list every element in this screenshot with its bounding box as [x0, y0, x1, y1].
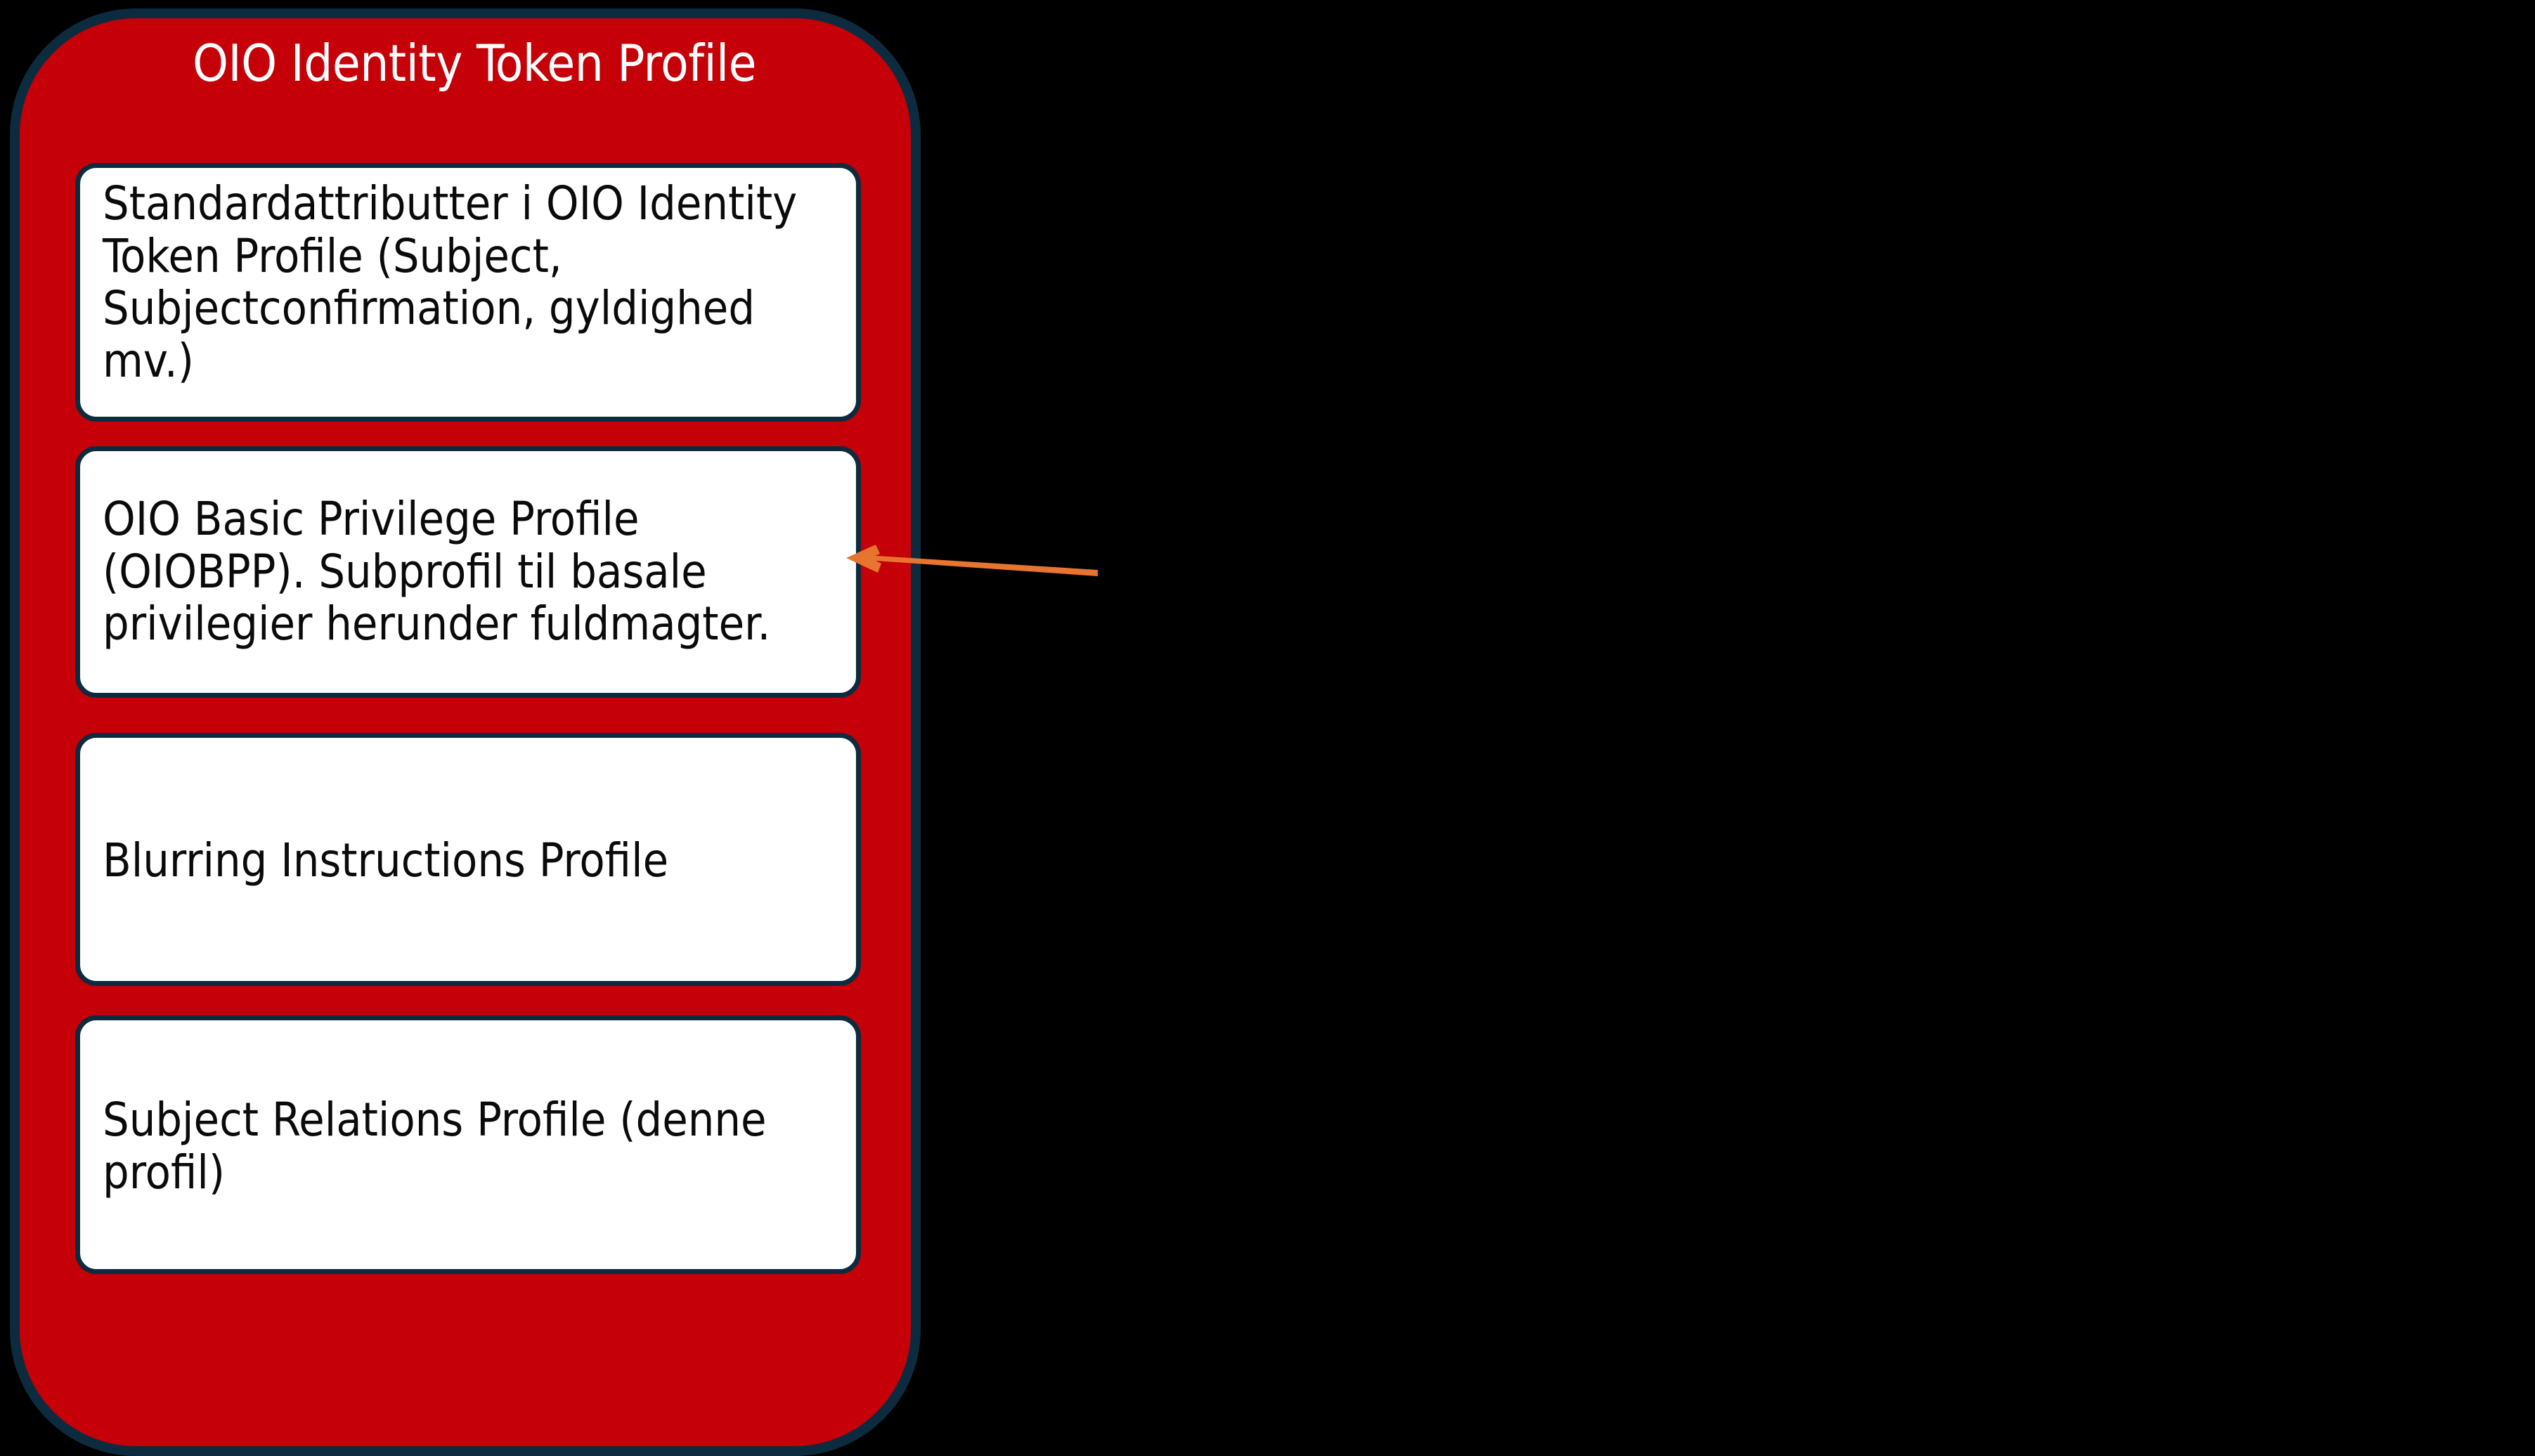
sub-profile-label: Standardattributter i OIO Identity Token… [80, 168, 856, 387]
page-title: OIO Identity Token Profile [20, 38, 911, 89]
sub-profile-box-subject-relations-profile[interactable]: Subject Relations Profile (denne profil) [75, 1015, 861, 1274]
oio-identity-token-profile-container: OIO Identity Token Profile Standardattri… [10, 8, 921, 1456]
sub-profile-label: OIO Basic Privilege Profile (OIOBPP). Su… [80, 493, 856, 651]
sub-profile-box-oio-basic-privilege-profile[interactable]: OIO Basic Privilege Profile (OIOBPP). Su… [75, 446, 861, 698]
sub-profile-box-standard-attributes[interactable]: Standardattributter i OIO Identity Token… [75, 163, 861, 422]
sub-profile-label: Subject Relations Profile (denne profil) [80, 1090, 856, 1199]
sub-profile-label: Blurring Instructions Profile [80, 832, 856, 888]
diagram-canvas: OIO Identity Token Profile Standardattri… [0, 0, 2535, 1400]
sub-profile-box-blurring-instructions-profile[interactable]: Blurring Instructions Profile [75, 733, 861, 986]
